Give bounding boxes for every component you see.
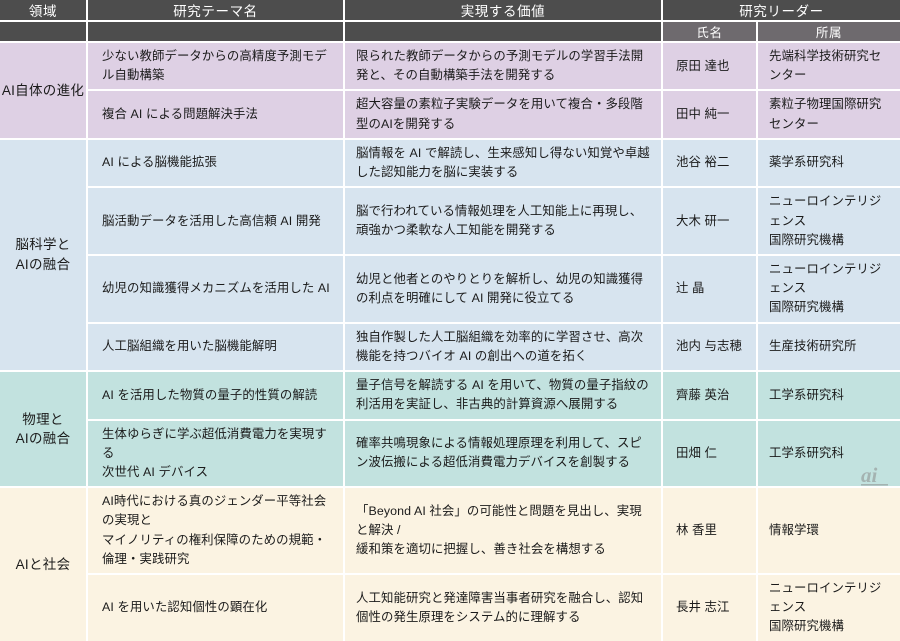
cell-leader-affiliation: 情報学環	[758, 488, 900, 573]
section-rows: AI時代における真のジェンダー平等社会の実現とマイノリティの権利保障のための規範…	[88, 488, 900, 641]
table-row: 幼児の知識獲得メカニズムを活用した AI幼児と他者とのやりとりを解析し、幼児の知…	[88, 256, 900, 324]
cell-realized-value: 量子信号を解読する AI を用いて、物質の量子指紋の利活用を実証し、非古典的計算…	[345, 372, 663, 418]
column-header-name: 氏名	[663, 22, 758, 43]
table-row: 脳活動データを活用した高信頼 AI 開発脳で行われている情報処理を人工知能上に再…	[88, 188, 900, 256]
cell-realized-value: 人工知能研究と発達障害当事者研究を融合し、認知個性の発生原理をシステム的に理解す…	[345, 575, 663, 641]
cell-realized-value: 脳情報を AI で解読し、生来感知し得ない知覚や卓越した認知能力を脳に実装する	[345, 140, 663, 186]
cell-realized-value: 「Beyond AI 社会」の可能性と問題を見出し、実現と解決 /緩和策を適切に…	[345, 488, 663, 573]
cell-realized-value: 確率共鳴現象による情報処理原理を利用して、スピン波伝搬による超低消費電力デバイス…	[345, 421, 663, 487]
cell-research-theme: 幼児の知識獲得メカニズムを活用した AI	[88, 256, 345, 322]
cell-leader-affiliation: 先端科学技術研究センター	[758, 43, 900, 89]
table-header-row-top: 領域 研究テーマ名 実現する価値 研究リーダー	[0, 0, 900, 22]
cell-leader-name: 林 香里	[663, 488, 758, 573]
cell-leader-name: 長井 志江	[663, 575, 758, 641]
cell-leader-affiliation: 工学系研究科	[758, 372, 900, 418]
cell-leader-name: 原田 達也	[663, 43, 758, 89]
table-row: AI時代における真のジェンダー平等社会の実現とマイノリティの権利保障のための規範…	[88, 488, 900, 575]
section-rows: AI による脳機能拡張脳情報を AI で解読し、生来感知し得ない知覚や卓越した認…	[88, 140, 900, 370]
column-header-affiliation: 所属	[758, 22, 900, 43]
cell-leader-name: 田中 純一	[663, 91, 758, 137]
cell-realized-value: 独自作製した人工脳組織を効率的に学習させ、高次機能を持つバイオ AI の創出への…	[345, 324, 663, 370]
cell-leader-affiliation: ニューロインテリジェンス国際研究機構	[758, 575, 900, 641]
section-rows: AI を活用した物質の量子的性質の解読量子信号を解読する AI を用いて、物質の…	[88, 372, 900, 486]
table-row: 生体ゆらぎに学ぶ超低消費電力を実現する次世代 AI デバイス確率共鳴現象による情…	[88, 421, 900, 487]
table-section: AIと社会AI時代における真のジェンダー平等社会の実現とマイノリティの権利保障の…	[0, 488, 900, 641]
cell-realized-value: 超大容量の素粒子実験データを用いて複合・多段階型のAIを開発する	[345, 91, 663, 137]
cell-leader-affiliation: 薬学系研究科	[758, 140, 900, 186]
cell-leader-affiliation: ニューロインテリジェンス国際研究機構	[758, 188, 900, 254]
column-header-area-spacer	[0, 22, 88, 43]
cell-leader-name: 池谷 裕二	[663, 140, 758, 186]
table-section: 物理とAIの融合AI を活用した物質の量子的性質の解読量子信号を解読する AI …	[0, 372, 900, 488]
table-row: 複合 AI による問題解決手法超大容量の素粒子実験データを用いて複合・多段階型の…	[88, 91, 900, 137]
cell-research-theme: AI を用いた認知個性の顕在化	[88, 575, 345, 641]
column-header-theme: 研究テーマ名	[88, 0, 345, 22]
column-header-area: 領域	[0, 0, 88, 22]
cell-leader-name: 池内 与志穂	[663, 324, 758, 370]
cell-research-theme: 複合 AI による問題解決手法	[88, 91, 345, 137]
column-header-leader: 研究リーダー	[663, 0, 900, 22]
cell-research-theme: AI による脳機能拡張	[88, 140, 345, 186]
cell-leader-affiliation: 工学系研究科	[758, 421, 900, 487]
section-area-label: AIと社会	[0, 488, 88, 641]
table-section: 脳科学とAIの融合AI による脳機能拡張脳情報を AI で解読し、生来感知し得な…	[0, 140, 900, 372]
cell-research-theme: 脳活動データを活用した高信頼 AI 開発	[88, 188, 345, 254]
section-rows: 少ない教師データからの高精度予測モデル自動構築限られた教師データからの予測モデル…	[88, 43, 900, 138]
table-row: AI による脳機能拡張脳情報を AI で解読し、生来感知し得ない知覚や卓越した認…	[88, 140, 900, 188]
cell-research-theme: 人工脳組織を用いた脳機能解明	[88, 324, 345, 370]
column-header-value-spacer	[345, 22, 663, 43]
table-header-row-sub: 氏名 所属	[0, 22, 900, 43]
table-body: AI自体の進化少ない教師データからの高精度予測モデル自動構築限られた教師データか…	[0, 43, 900, 641]
cell-leader-name: 齊藤 英治	[663, 372, 758, 418]
cell-leader-affiliation: 素粒子物理国際研究センター	[758, 91, 900, 137]
section-area-label: AI自体の進化	[0, 43, 88, 138]
table-row: 少ない教師データからの高精度予測モデル自動構築限られた教師データからの予測モデル…	[88, 43, 900, 91]
column-header-value: 実現する価値	[345, 0, 663, 22]
cell-leader-name: 大木 研一	[663, 188, 758, 254]
cell-research-theme: 生体ゆらぎに学ぶ超低消費電力を実現する次世代 AI デバイス	[88, 421, 345, 487]
research-themes-table: 領域 研究テーマ名 実現する価値 研究リーダー 氏名 所属 AI自体の進化少ない…	[0, 0, 900, 493]
table-row: AI を活用した物質の量子的性質の解読量子信号を解読する AI を用いて、物質の…	[88, 372, 900, 420]
column-header-theme-spacer	[88, 22, 345, 43]
table-header: 領域 研究テーマ名 実現する価値 研究リーダー 氏名 所属	[0, 0, 900, 43]
cell-realized-value: 幼児と他者とのやりとりを解析し、幼児の知識獲得の利点を明確にして AI 開発に役…	[345, 256, 663, 322]
table-row: AI を用いた認知個性の顕在化人工知能研究と発達障害当事者研究を融合し、認知個性…	[88, 575, 900, 641]
cell-realized-value: 限られた教師データからの予測モデルの学習手法開発と、その自動構築手法を開発する	[345, 43, 663, 89]
section-area-label: 物理とAIの融合	[0, 372, 88, 486]
cell-leader-name: 田畑 仁	[663, 421, 758, 487]
cell-research-theme: AI時代における真のジェンダー平等社会の実現とマイノリティの権利保障のための規範…	[88, 488, 345, 573]
cell-research-theme: 少ない教師データからの高精度予測モデル自動構築	[88, 43, 345, 89]
section-area-label: 脳科学とAIの融合	[0, 140, 88, 370]
cell-research-theme: AI を活用した物質の量子的性質の解読	[88, 372, 345, 418]
cell-leader-name: 辻 晶	[663, 256, 758, 322]
cell-leader-affiliation: 生産技術研究所	[758, 324, 900, 370]
table-section: AI自体の進化少ない教師データからの高精度予測モデル自動構築限られた教師データか…	[0, 43, 900, 140]
table-row: 人工脳組織を用いた脳機能解明独自作製した人工脳組織を効率的に学習させ、高次機能を…	[88, 324, 900, 370]
cell-realized-value: 脳で行われている情報処理を人工知能上に再現し、頑強かつ柔軟な人工知能を開発する	[345, 188, 663, 254]
cell-leader-affiliation: ニューロインテリジェンス国際研究機構	[758, 256, 900, 322]
